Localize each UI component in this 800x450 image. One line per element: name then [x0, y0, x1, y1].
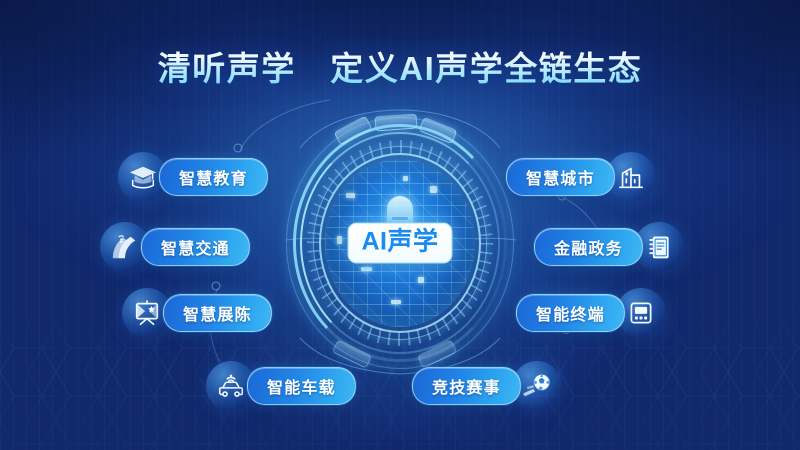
page-title: 清听声学 定义AI声学全链生态 — [0, 42, 800, 90]
hub-arc-plate — [375, 114, 418, 132]
node-label[interactable]: 智慧城市 — [506, 158, 615, 196]
central-hub: AI声学 — [287, 117, 513, 369]
node-label[interactable]: 智慧交通 — [141, 228, 250, 266]
node-smart-education[interactable]: 智慧教育 — [118, 152, 268, 202]
node-label[interactable]: 竞技赛事 — [412, 367, 521, 405]
node-finance-government[interactable]: 金融政务 — [534, 222, 684, 272]
node-smart-exhibition[interactable]: 智慧展陈 — [122, 288, 272, 338]
hub-label-badge: AI声学 — [347, 223, 452, 264]
node-label[interactable]: 金融政务 — [534, 228, 643, 266]
node-smart-city[interactable]: 智慧城市 — [506, 152, 656, 202]
node-label[interactable]: 智能车载 — [247, 367, 356, 405]
node-label[interactable]: 智慧展陈 — [163, 294, 272, 332]
node-smart-transport[interactable]: 智慧交通 — [100, 222, 250, 272]
node-label[interactable]: 智慧教育 — [159, 158, 268, 196]
slide-canvas: 清听声学 定义AI声学全链生态 — [0, 0, 800, 450]
node-smart-terminal[interactable]: 智能终端 — [516, 288, 666, 338]
node-label[interactable]: 智能终端 — [516, 294, 625, 332]
node-smart-vehicle[interactable]: 智能车载 — [206, 361, 356, 411]
node-esports-events[interactable]: 竞技赛事 — [412, 361, 562, 411]
